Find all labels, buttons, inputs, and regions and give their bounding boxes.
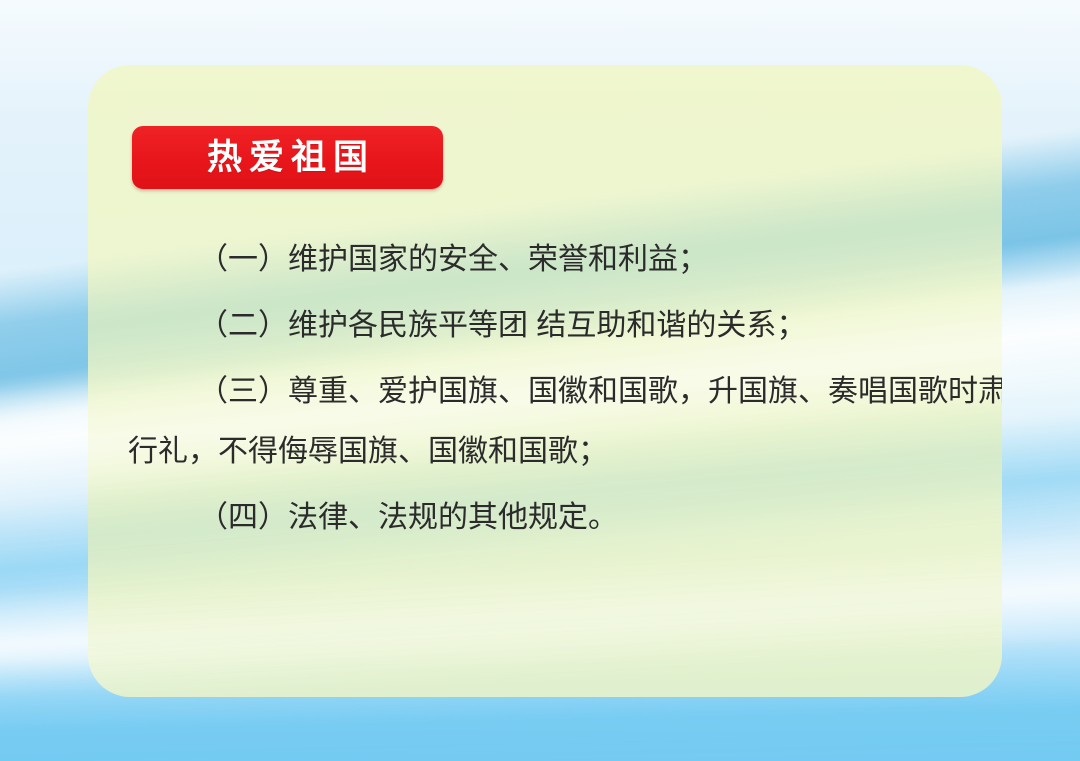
provision-list: （一）维护国家的安全、荣誉和利益； （二）维护各民族平等团 结互助和谐的关系； … bbox=[128, 245, 988, 533]
line-spacer bbox=[128, 275, 988, 311]
slide-canvas: 热爱祖国 （一）维护国家的安全、荣誉和利益； （二）维护各民族平等团 结互助和谐… bbox=[0, 0, 1080, 761]
provision-item-3-line-2: 行礼，不得侮辱国旗、国徽和国歌； bbox=[128, 437, 988, 467]
card-sheen-four bbox=[88, 534, 1002, 697]
provision-item-4: （四）法律、法规的其他规定。 bbox=[128, 503, 988, 533]
content-card: 热爱祖国 （一）维护国家的安全、荣誉和利益； （二）维护各民族平等团 结互助和谐… bbox=[88, 65, 1002, 697]
section-title-badge: 热爱祖国 bbox=[132, 126, 443, 189]
line-spacer bbox=[128, 341, 988, 377]
line-spacer bbox=[128, 407, 988, 437]
line-spacer bbox=[128, 467, 988, 503]
provision-item-1: （一）维护国家的安全、荣誉和利益； bbox=[128, 245, 988, 275]
provision-item-2: （二）维护各民族平等团 结互助和谐的关系； bbox=[128, 311, 988, 341]
provision-item-3-line-1: （三）尊重、爱护国旗、国徽和国歌，升国旗、奏唱国歌时肃立 bbox=[128, 377, 988, 407]
section-title-label: 热爱祖国 bbox=[200, 140, 375, 175]
